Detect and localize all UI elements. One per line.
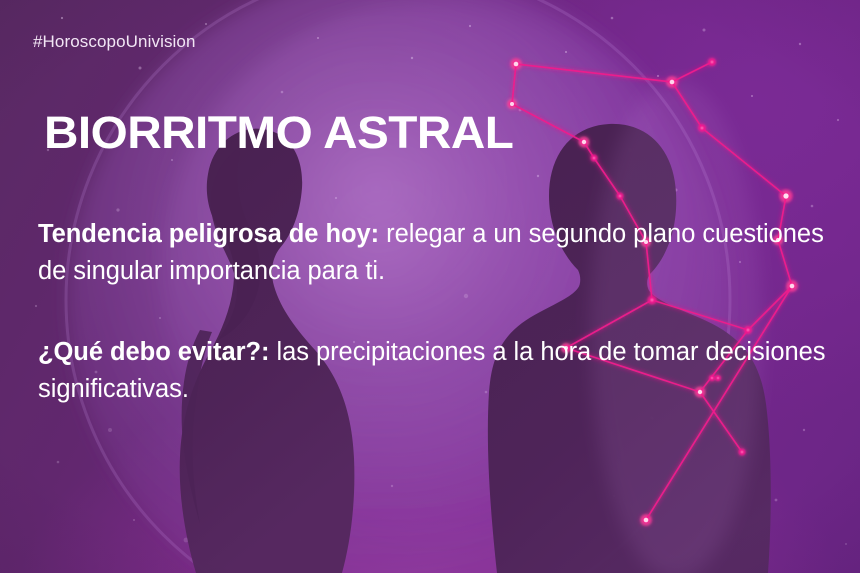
evitar-block: ¿Qué debo evitar?: las precipitaciones a… xyxy=(38,334,828,408)
hashtag-label: #HoroscopoUnivision xyxy=(33,32,196,52)
page-title: BIORRITMO ASTRAL xyxy=(44,109,513,157)
tendencia-block: Tendencia peligrosa de hoy: relegar a un… xyxy=(38,216,828,290)
tendencia-lead: Tendencia peligrosa de hoy: xyxy=(38,220,379,248)
horoscope-card: #HoroscopoUnivision BIORRITMO ASTRAL Ten… xyxy=(0,0,860,573)
evitar-lead: ¿Qué debo evitar?: xyxy=(38,338,269,366)
